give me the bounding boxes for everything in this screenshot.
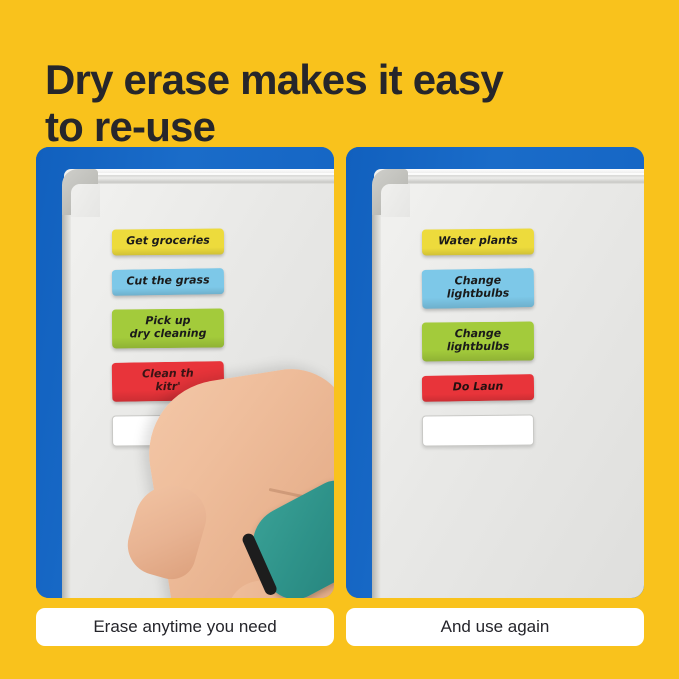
sticky-note-text: lightbulbs [428,287,528,302]
sticky-note: Water plants [422,229,534,256]
board-corner-cap [62,169,98,215]
aluminium-top-rail [80,169,334,184]
caption-right: And use again [346,608,644,646]
sticky-note: Do Laun [422,374,534,402]
sticky-note: Changelightbulbs [422,321,534,361]
sticky-note-text: Do Laun [428,380,528,395]
board-corner-cap [372,169,408,215]
sticky-note-text: dry cleaning [118,327,218,341]
caption-left: Erase anytime you need [36,608,334,646]
board-left-edge [372,197,381,598]
sticky-note-text: Get groceries [118,235,218,249]
sticky-note-text: Cut the grass [118,274,218,289]
promo-graphic: Dry erase makes it easy to re-use Get gr… [0,0,679,679]
sticky-note: Cut the grass [112,268,224,296]
sticky-note-text: lightbulbs [428,340,528,354]
sticky-note: Get groceries [112,229,224,256]
page-title: Dry erase makes it easy to re-use [45,56,645,150]
sticky-note-text: Water plants [428,235,528,249]
aluminium-top-rail [390,169,644,184]
sticky-note [422,414,534,446]
sticky-note: Changelightbulbs [422,268,535,309]
board-left-edge [62,197,71,598]
sticky-note: Pick updry cleaning [112,308,224,348]
panel-left: Get groceriesCut the grassPick updry cle… [36,147,334,598]
sticky-note-text [429,421,527,422]
panel-right: Water plantsChangelightbulbsChangelightb… [346,147,644,598]
note-list-right: Water plantsChangelightbulbsChangelightb… [422,229,546,460]
